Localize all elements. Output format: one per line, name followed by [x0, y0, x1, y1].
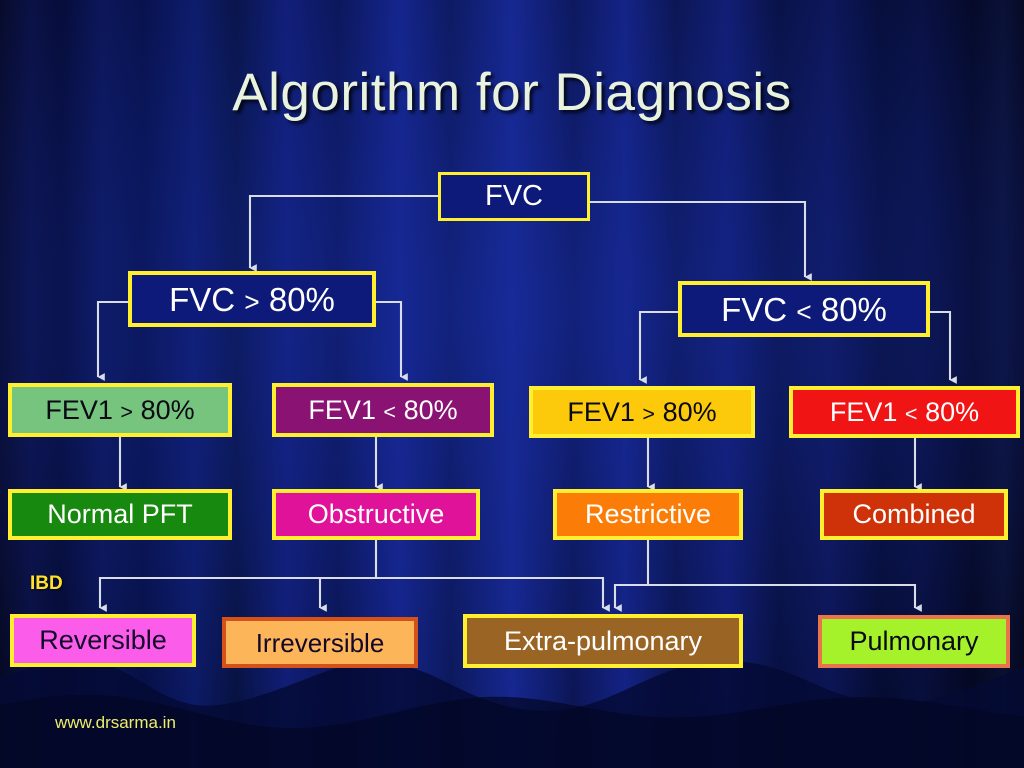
- node-restrictive-label: Restrictive: [585, 501, 711, 528]
- page-title: Algorithm for Diagnosis: [0, 62, 1024, 123]
- node-fev1-gt-80-b[interactable]: FEV1 > 80%: [529, 386, 755, 438]
- node-fvc-gt-80-operator: >: [244, 287, 259, 317]
- ibd-label: IBD: [30, 573, 63, 595]
- node-fvc-label: FVC: [485, 182, 543, 211]
- node-fvc-lt-80[interactable]: FVC < 80%: [678, 281, 930, 337]
- node-fev1-gt-80-b-text: FEV1: [567, 397, 635, 427]
- node-fvc[interactable]: FVC: [438, 172, 590, 221]
- node-reversible[interactable]: Reversible: [10, 614, 196, 667]
- node-restrictive[interactable]: Restrictive: [553, 489, 743, 540]
- node-obstructive[interactable]: Obstructive: [272, 489, 480, 540]
- node-fvc-lt-80-text: FVC: [721, 291, 787, 328]
- node-reversible-label: Reversible: [39, 627, 167, 654]
- node-fev1-gt-80-a-operator: >: [120, 399, 133, 424]
- node-fev1-gt-80-a[interactable]: FEV1 > 80%: [8, 383, 232, 437]
- node-fev1-lt-80-b-operator: <: [905, 401, 918, 426]
- node-fev1-lt-80-b[interactable]: FEV1 < 80%: [789, 386, 1020, 438]
- node-fvc-lt-80-operator: <: [796, 297, 811, 327]
- node-fev1-gt-80-a-text: FEV1: [45, 395, 113, 425]
- node-fvc-gt-80-value: 80%: [269, 281, 335, 318]
- slide-canvas: Algorithm for Diagnosis: [0, 0, 1024, 768]
- node-fev1-gt-80-a-value: 80%: [141, 395, 195, 425]
- node-fvc-gt-80[interactable]: FVC > 80%: [128, 271, 376, 327]
- node-fvc-gt-80-text: FVC: [169, 281, 235, 318]
- footer-url: www.drsarma.in: [55, 713, 176, 733]
- node-irreversible-label: Irreversible: [256, 630, 385, 656]
- node-fev1-lt-80-a-operator: <: [383, 399, 396, 424]
- node-fev1-gt-80-b-operator: >: [642, 401, 655, 426]
- node-normal-pft-label: Normal PFT: [47, 501, 193, 528]
- node-pulmonary[interactable]: Pulmonary: [818, 615, 1010, 668]
- node-fev1-lt-80-a-text: FEV1: [308, 395, 376, 425]
- node-combined-label: Combined: [852, 501, 975, 528]
- node-fvc-lt-80-value: 80%: [821, 291, 887, 328]
- node-obstructive-label: Obstructive: [308, 501, 445, 528]
- node-fev1-gt-80-b-value: 80%: [663, 397, 717, 427]
- node-irreversible[interactable]: Irreversible: [222, 617, 418, 668]
- node-extra-pulmonary[interactable]: Extra-pulmonary: [463, 614, 743, 668]
- node-fev1-lt-80-a[interactable]: FEV1 < 80%: [272, 383, 494, 437]
- node-extra-pulmonary-label: Extra-pulmonary: [504, 628, 702, 655]
- node-pulmonary-label: Pulmonary: [849, 628, 978, 655]
- node-fev1-lt-80-b-value: 80%: [925, 397, 979, 427]
- node-fev1-lt-80-a-value: 80%: [404, 395, 458, 425]
- node-fev1-lt-80-b-text: FEV1: [830, 397, 898, 427]
- node-normal-pft[interactable]: Normal PFT: [8, 489, 232, 540]
- node-combined[interactable]: Combined: [820, 489, 1008, 540]
